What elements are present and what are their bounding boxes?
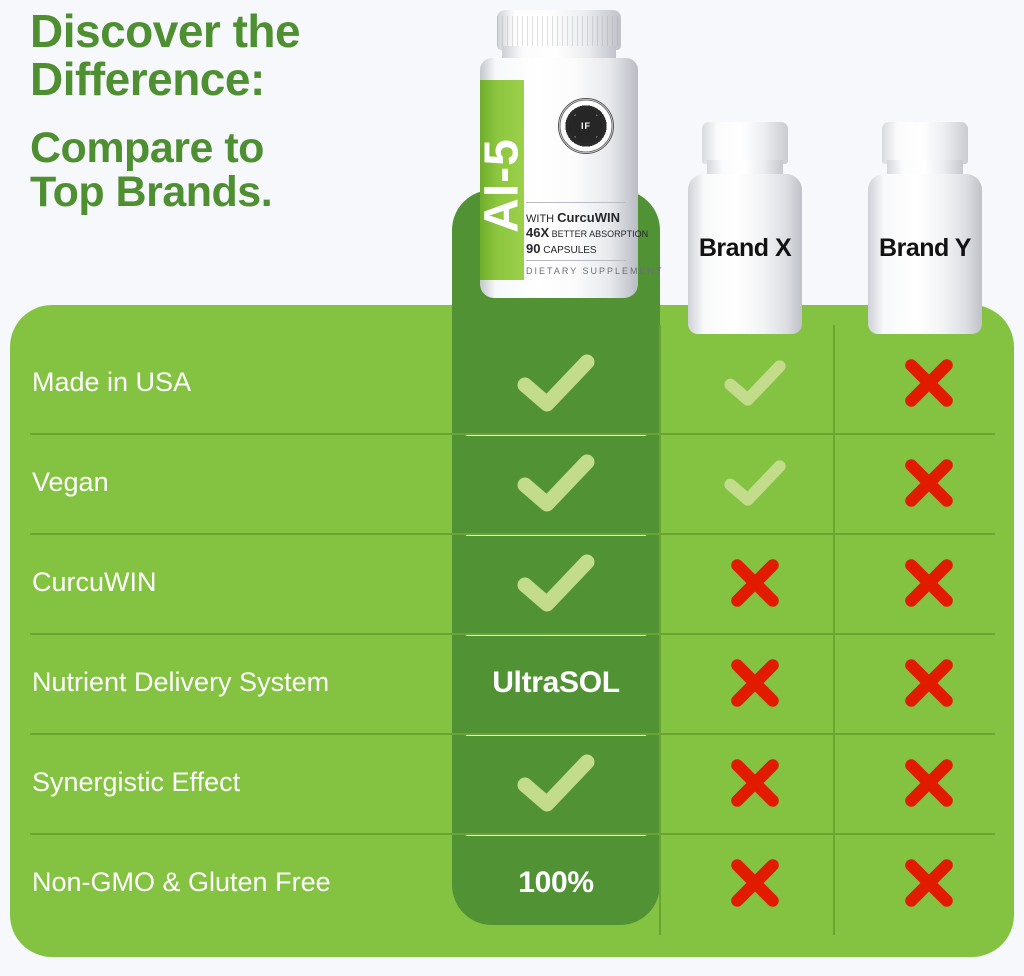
- ingredient-name: CurcuWIN: [557, 210, 620, 225]
- brandy-cell-row-2: [844, 433, 1014, 533]
- absorption-label: BETTER ABSORPTION: [552, 229, 649, 239]
- headline-line-4: Top Brands.: [30, 170, 450, 215]
- brandx-cell-row-6: [670, 833, 840, 933]
- row-label-5: Synergistic Effect: [32, 733, 432, 833]
- table-row: Made in USA: [10, 333, 1014, 433]
- absorption-value: 46X: [526, 225, 549, 240]
- check-icon: [724, 458, 786, 508]
- table-row: CurcuWIN: [10, 533, 1014, 633]
- headline-line-3: Compare to: [30, 126, 450, 171]
- brandy-cell-row-3: [844, 533, 1014, 633]
- brand-y-cap: [882, 122, 968, 164]
- row-label-1: Made in USA: [32, 333, 432, 433]
- brandx-cell-row-5: [670, 733, 840, 833]
- brand-y-label: Brand Y: [868, 234, 982, 263]
- row-label-4: Nutrient Delivery System: [32, 633, 432, 733]
- brandx-cell-row-1: [670, 333, 840, 433]
- brandy-cell-row-6: [844, 833, 1014, 933]
- table-row: Non-GMO & Gluten Free: [10, 833, 1014, 933]
- ai5-product-bottle: AI-5 IF WITH CurcuWIN 46X BETTER ABSORPT…: [474, 10, 644, 300]
- brand-x-label: Brand X: [688, 234, 802, 263]
- page-title: Discover the Difference: Compare to Top …: [30, 8, 450, 215]
- bottle-product-name: AI-5: [475, 86, 530, 286]
- brandx-cell-row-2: [670, 433, 840, 533]
- cross-icon: [727, 855, 783, 911]
- capsule-count: 90: [526, 241, 540, 256]
- headline-line-2: Difference:: [30, 56, 450, 104]
- cross-icon: [901, 455, 957, 511]
- row-label-2: Vegan: [32, 433, 432, 533]
- with-label: WITH: [526, 213, 554, 225]
- table-row: Synergistic Effect: [10, 733, 1014, 833]
- brandx-cell-row-4: [670, 633, 840, 733]
- row-label-6: Non-GMO & Gluten Free: [32, 833, 432, 933]
- bottle-count-line: 90 CAPSULES: [526, 241, 634, 256]
- table-row: Nutrient Delivery System: [10, 633, 1014, 733]
- seal-monogram: IF: [571, 111, 601, 141]
- table-row: Vegan: [10, 433, 1014, 533]
- brand-x-cap: [702, 122, 788, 164]
- cross-icon: [727, 555, 783, 611]
- bottle-rule-bottom: [526, 260, 626, 261]
- brandy-cell-row-5: [844, 733, 1014, 833]
- bottle-ingredient-line: WITH CurcuWIN: [526, 210, 634, 225]
- brandy-cell-row-1: [844, 333, 1014, 433]
- check-icon: [724, 358, 786, 408]
- bottle-supplement-label: DIETARY SUPPLEMENT: [526, 266, 634, 276]
- bottle-rule-top: [526, 202, 626, 203]
- cross-icon: [727, 755, 783, 811]
- row-label-3: CurcuWIN: [32, 533, 432, 633]
- comparison-infographic: Discover the Difference: Compare to Top …: [0, 0, 1024, 976]
- cross-icon: [901, 755, 957, 811]
- cross-icon: [901, 855, 957, 911]
- cross-icon: [901, 555, 957, 611]
- headline-line-1: Discover the: [30, 8, 450, 56]
- brandy-cell-row-4: [844, 633, 1014, 733]
- cross-icon: [901, 655, 957, 711]
- bottle-absorption-line: 46X BETTER ABSORPTION: [526, 225, 634, 240]
- cross-icon: [901, 355, 957, 411]
- capsule-label: CAPSULES: [543, 245, 596, 256]
- comparison-table: Made in USA Vegan: [10, 305, 1014, 957]
- cross-icon: [727, 655, 783, 711]
- bottle-cap-ridges: [497, 16, 621, 46]
- brandx-cell-row-3: [670, 533, 840, 633]
- intestinal-fortitude-seal-icon: IF: [558, 98, 614, 154]
